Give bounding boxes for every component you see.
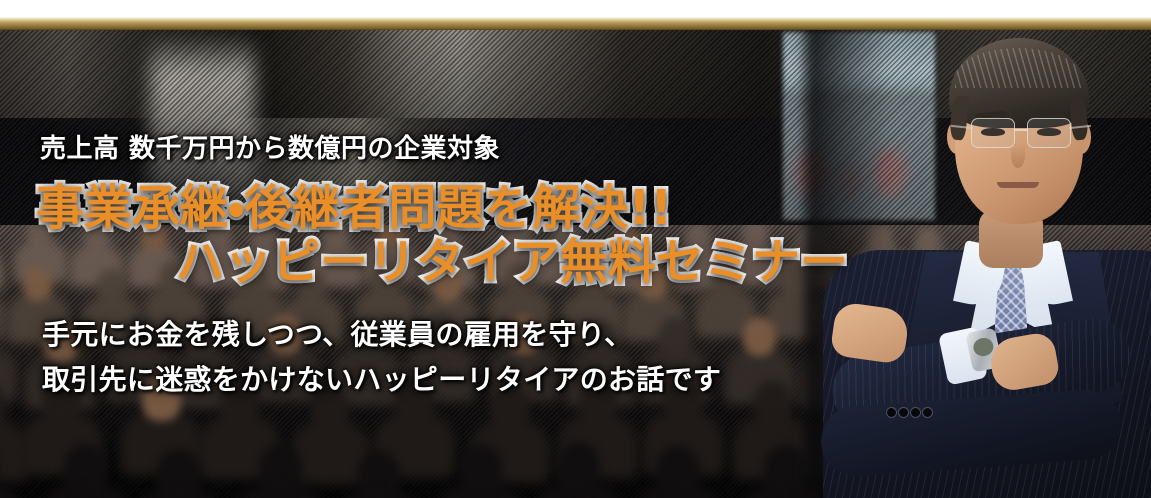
- kicker-text: 売上高 数千万円から数億円の企業対象: [40, 128, 500, 165]
- body-text-line-2: 取引先に迷惑をかけないハッピーリタイアのお話です: [42, 358, 721, 398]
- body-text-line-1: 手元にお金を残しつつ、従業員の雇用を守り、: [42, 313, 632, 353]
- headline-line-2: ハッピーリタイア無料セミナー: [176, 222, 848, 292]
- seminar-banner: 売上高 数千万円から数億円の企業対象 事業承継・後継者問題を解決!! ハッピーリ…: [0, 0, 1151, 498]
- banner-copy: 売上高 数千万円から数億円の企業対象 事業承継・後継者問題を解決!! ハッピーリ…: [0, 0, 1151, 498]
